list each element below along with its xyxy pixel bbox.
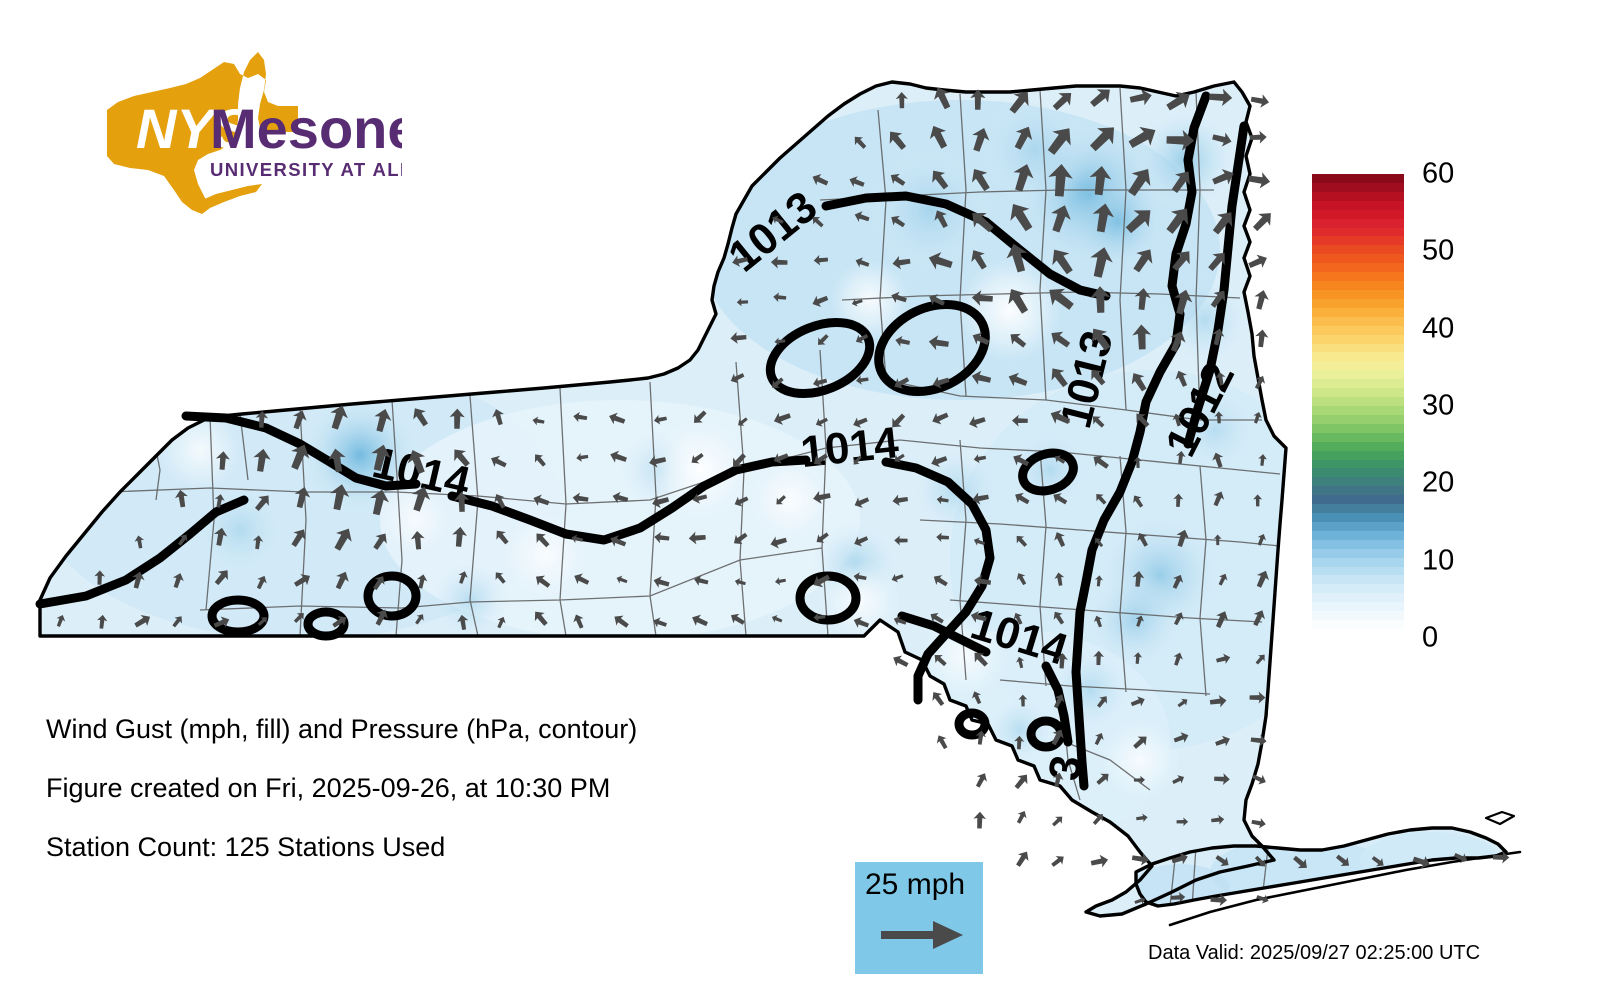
logo-subtitle: UNIVERSITY AT ALBANY — [210, 159, 402, 180]
colorbar-band — [1312, 228, 1404, 237]
colorbar-tick-30: 30 — [1422, 392, 1454, 421]
wind-barb — [1049, 852, 1067, 869]
colorbar-band — [1312, 210, 1404, 219]
colorbar-band — [1312, 397, 1404, 406]
colorbar-band — [1312, 308, 1404, 317]
colorbar-band — [1312, 522, 1404, 531]
colorbar-band — [1312, 567, 1404, 576]
colorbar-band — [1312, 406, 1404, 415]
wind-barb — [1014, 809, 1029, 826]
colorbar-band — [1312, 540, 1404, 549]
colorbar-band — [1312, 549, 1404, 558]
long-island-logo-shape — [202, 184, 262, 208]
colorbar-tick-0: 0 — [1422, 624, 1438, 653]
colorbar-band — [1312, 513, 1404, 522]
colorbar-band — [1312, 584, 1404, 593]
colorbar-band — [1312, 352, 1404, 361]
colorbar-band — [1312, 219, 1404, 228]
colorbar-band — [1312, 183, 1404, 192]
colorbar-band — [1312, 335, 1404, 344]
wind-key-arrow-icon — [881, 918, 965, 952]
wind-barb — [1251, 817, 1267, 830]
colorbar-gradient — [1312, 174, 1404, 638]
wind-barb — [973, 771, 990, 790]
colorbar-tick-20: 20 — [1422, 469, 1454, 498]
wind-barb — [1252, 288, 1271, 311]
data-valid-timestamp: Data Valid: 2025/09/27 02:25:00 UTC — [1148, 942, 1480, 965]
colorbar-band — [1312, 531, 1404, 540]
wind-barb — [1011, 771, 1032, 792]
wind-barb — [1050, 813, 1066, 828]
caption-title: Wind Gust (mph, fill) and Pressure (hPa,… — [46, 716, 846, 743]
nys-mesonet-logo: NYS Mesonet UNIVERSITY AT ALBANY — [52, 44, 402, 214]
colorbar-tick-40: 40 — [1422, 314, 1454, 343]
colorbar-band — [1312, 254, 1404, 263]
colorbar-band — [1312, 433, 1404, 442]
colorbar-band — [1312, 468, 1404, 477]
contour-label-1014-4: 1014 — [798, 418, 901, 477]
colorbar-band — [1312, 424, 1404, 433]
wind-barb — [1013, 848, 1033, 869]
wind-barb — [973, 812, 986, 829]
colorbar-band — [1312, 299, 1404, 308]
colorbar-band — [1312, 379, 1404, 388]
colorbar-band — [1312, 442, 1404, 451]
colorbar-band — [1312, 611, 1404, 620]
caption-station-count: Station Count: 125 Stations Used — [46, 834, 846, 861]
colorbar-band — [1312, 281, 1404, 290]
colorbar-band — [1312, 486, 1404, 495]
figure-canvas: 1013101310121014101410143 NYS Mesonet UN… — [0, 0, 1600, 1000]
colorbar-band — [1312, 290, 1404, 299]
colorbar-band — [1312, 236, 1404, 245]
wind-barb — [934, 733, 951, 751]
logo-mesonet: Mesonet — [210, 97, 402, 160]
wind-barb — [929, 689, 948, 709]
colorbar-band — [1312, 201, 1404, 210]
colorbar-band — [1312, 575, 1404, 584]
colorbar-band — [1312, 272, 1404, 281]
wind-key-label: 25 mph — [865, 868, 965, 902]
wind-barb — [1249, 207, 1277, 235]
colorbar-band — [1312, 504, 1404, 513]
wind-barb — [1250, 92, 1270, 109]
caption-created: Figure created on Fri, 2025-09-26, at 10… — [46, 775, 846, 802]
colorbar-band — [1312, 370, 1404, 379]
colorbar-band — [1312, 245, 1404, 254]
colorbar-band — [1312, 263, 1404, 272]
colorbar-band — [1312, 361, 1404, 370]
colorbar-tick-50: 50 — [1422, 237, 1454, 266]
colorbar-band — [1312, 620, 1404, 629]
colorbar-band — [1312, 558, 1404, 567]
colorbar-band — [1312, 477, 1404, 486]
colorbar-band — [1312, 451, 1404, 460]
colorbar-tick-labels: 6050403020100 — [1414, 174, 1564, 638]
colorbar-band — [1312, 326, 1404, 335]
wind-barb — [1090, 853, 1110, 869]
colorbar-band — [1312, 192, 1404, 201]
wind-barb — [1254, 329, 1269, 348]
wind-speed-key: 25 mph — [855, 862, 983, 974]
colorbar-band — [1312, 344, 1404, 353]
colorbar-band — [1312, 495, 1404, 504]
colorbar-band — [1312, 629, 1404, 638]
colorbar-band — [1312, 415, 1404, 424]
colorbar-band — [1312, 460, 1404, 469]
colorbar-band — [1312, 602, 1404, 611]
colorbar-band — [1312, 388, 1404, 397]
colorbar-band — [1312, 317, 1404, 326]
figure-caption: Wind Gust (mph, fill) and Pressure (hPa,… — [46, 716, 846, 893]
colorbar: 6050403020100 — [1312, 174, 1572, 640]
wind-barb — [1246, 251, 1269, 272]
colorbar-band — [1312, 174, 1404, 183]
colorbar-tick-60: 60 — [1422, 160, 1454, 189]
colorbar-tick-10: 10 — [1422, 546, 1454, 575]
colorbar-band — [1312, 593, 1404, 602]
